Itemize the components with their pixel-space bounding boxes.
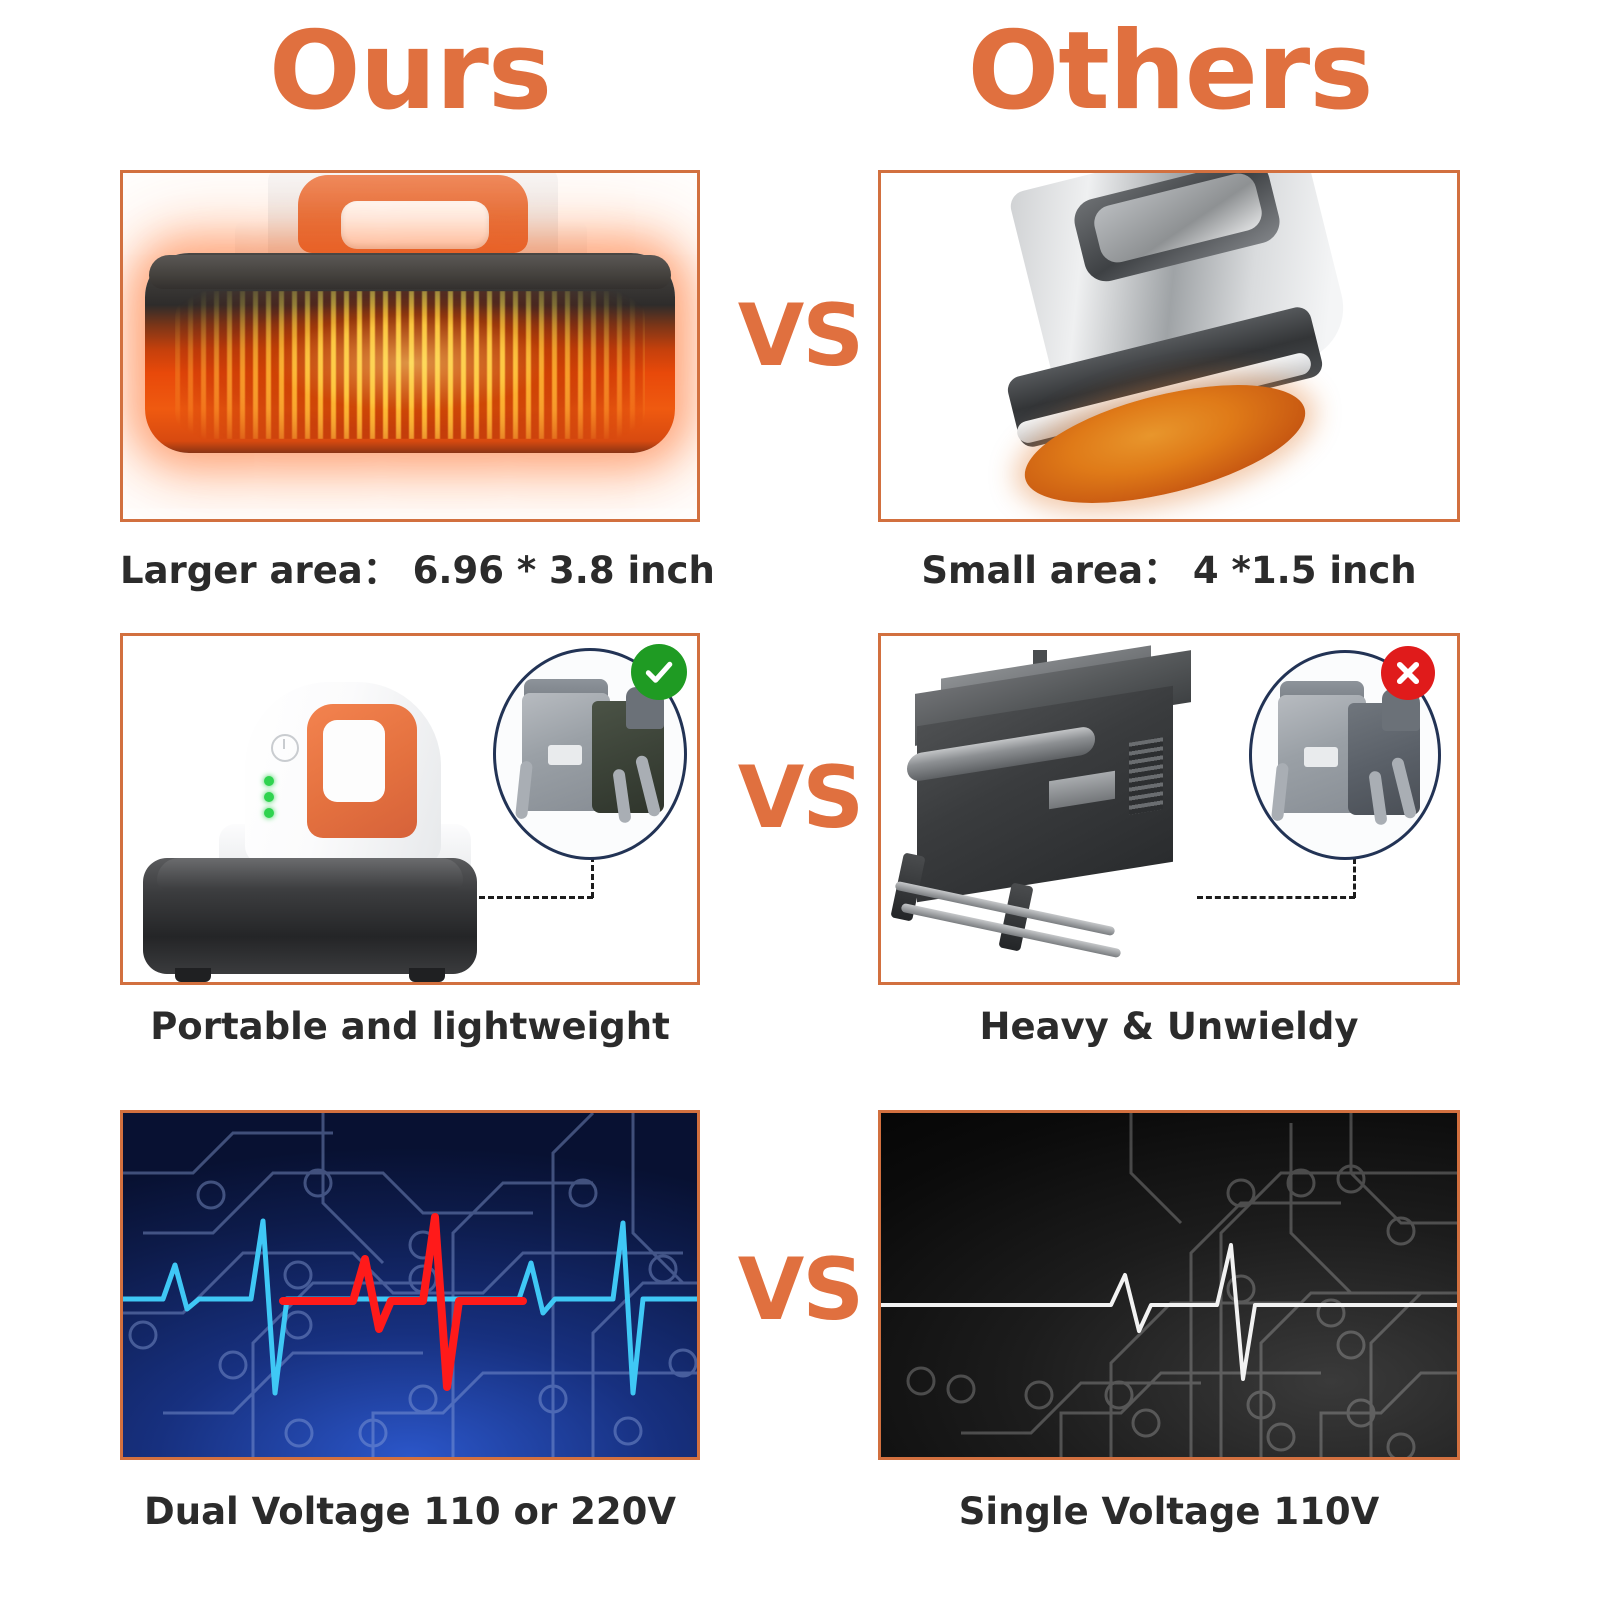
vs-label-row-1: VS	[720, 286, 880, 386]
callout-line-vertical	[591, 856, 594, 898]
large-glowing-heat-plate	[123, 173, 697, 519]
callout-line-horizontal	[1197, 896, 1355, 899]
panel-ours-row-3	[120, 1110, 700, 1460]
heating-element-stripes	[175, 291, 645, 439]
dock-foot-right	[409, 968, 445, 982]
power-icon	[271, 734, 299, 762]
status-led-1	[264, 776, 274, 786]
caption-ours-row-2: Portable and lightweight	[120, 1005, 700, 1048]
vs-label-row-2: VS	[720, 748, 880, 848]
panel-ours-row-2	[120, 633, 700, 985]
heading-ours: Ours	[120, 18, 700, 126]
heading-others: Others	[880, 18, 1460, 126]
small-iron-heat-plate	[881, 173, 1457, 519]
charging-dock-lip	[157, 858, 463, 890]
caption-ours-row-3: Dual Voltage 110 or 220V	[120, 1490, 700, 1533]
caption-others-row-3: Single Voltage 110V	[878, 1490, 1460, 1533]
comparison-infographic: Ours Others VS VS VS Larger area： 6.96 *…	[0, 0, 1600, 1600]
status-led-3	[264, 808, 274, 818]
panel-others-row-3	[878, 1110, 1460, 1460]
check-badge	[631, 644, 687, 700]
panel-others-row-1	[878, 170, 1460, 522]
vs-label-row-3: VS	[720, 1240, 880, 1340]
dock-foot-left	[175, 968, 211, 982]
heat-plate-bevel	[149, 255, 671, 289]
caption-ours-row-1: Larger area： 6.96 * 3.8 inch	[120, 540, 700, 594]
panel-others-row-2	[878, 633, 1460, 985]
pulse-waveform	[123, 1113, 697, 1457]
caption-others-row-1: Small area： 4 *1.5 inch	[878, 540, 1460, 594]
x-badge	[1381, 646, 1435, 700]
panel-ours-row-1	[120, 170, 700, 522]
callout-line-vertical	[1353, 858, 1356, 898]
pulse-waveform	[881, 1113, 1457, 1457]
portable-heat-press-with-dock	[123, 636, 697, 982]
caption-others-row-2: Heavy & Unwieldy	[878, 1005, 1460, 1048]
callout-line-horizontal	[479, 896, 593, 899]
bag-label-patch	[1304, 747, 1338, 767]
machine-vent-grille	[1129, 737, 1163, 814]
dark-circuit-pulse-waveform	[881, 1113, 1457, 1457]
industrial-dtf-printer	[881, 636, 1457, 982]
x-icon	[1391, 656, 1425, 690]
press-handle-hole	[323, 720, 385, 802]
bag-label-patch	[548, 745, 582, 765]
status-led-2	[264, 792, 274, 802]
check-icon	[642, 655, 676, 689]
blue-circuit-pulse-waveform	[123, 1113, 697, 1457]
press-handle-hole	[341, 201, 489, 249]
